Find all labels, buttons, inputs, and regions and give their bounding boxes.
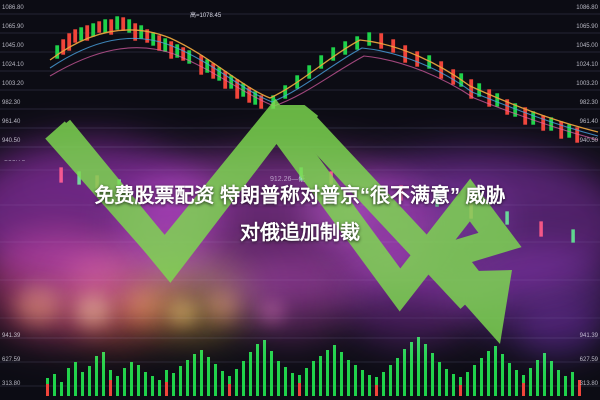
volume-axis-left-0: 941.39: [2, 333, 20, 339]
ma-line-pink: [50, 48, 598, 140]
headline-line-2: 对俄追加制裁: [240, 220, 360, 247]
volume-axis-left-2: 313.80: [2, 381, 20, 387]
peak-annotation: 高=1078.45: [190, 10, 221, 19]
price-axis-right-2: 1045.00: [576, 43, 598, 49]
price-axis-right-5: 982.30: [580, 100, 598, 106]
price-axis-right-3: 1024.10: [576, 62, 598, 68]
price-axis-left-5: 982.30: [2, 100, 20, 106]
volume-axis-right-1: 627.59: [580, 357, 598, 363]
headline-line-1: 免费股票配资 特朗普称对普京“很不满意” 威胁: [94, 183, 505, 210]
volume-panel-svg: [0, 330, 600, 400]
price-axis-left-1: 1065.90: [2, 24, 24, 30]
price-axis-left-2: 1045.00: [2, 43, 24, 49]
headline-block: 免费股票配资 特朗普称对普京“很不满意” 威胁 对俄追加制裁: [0, 160, 600, 270]
price-axis-right-1: 1065.90: [576, 24, 598, 30]
volume-axis-right-2: 313.80: [580, 381, 598, 387]
volume-axis-right-0: 941.39: [580, 333, 598, 339]
price-axis-right-4: 1003.20: [576, 81, 598, 87]
price-axis-left-3: 1024.10: [2, 62, 24, 68]
price-axis-left-0: 1086.80: [2, 5, 24, 11]
price-panel: 1086.80 1065.90 1045.00 1024.10 1003.20 …: [0, 0, 600, 160]
screenshot-root: 1086.80 1065.90 1045.00 1024.10 1003.20 …: [0, 0, 600, 400]
price-axis-right-0: 1086.80: [576, 5, 598, 11]
price-axis-left-4: 1003.20: [2, 81, 24, 87]
price-axis-right-6: 961.40: [580, 119, 598, 125]
ma-line-blue: [50, 38, 598, 136]
price-axis-right-7: 940.50: [580, 138, 598, 144]
price-panel-svg: [0, 0, 600, 160]
volume-axis-left-1: 627.59: [2, 357, 20, 363]
volume-panel: 941.39 627.59 313.80 941.39 627.59 313.8…: [0, 330, 600, 400]
price-axis-left-7: 940.50: [2, 138, 20, 144]
price-axis-left-6: 961.40: [2, 119, 20, 125]
